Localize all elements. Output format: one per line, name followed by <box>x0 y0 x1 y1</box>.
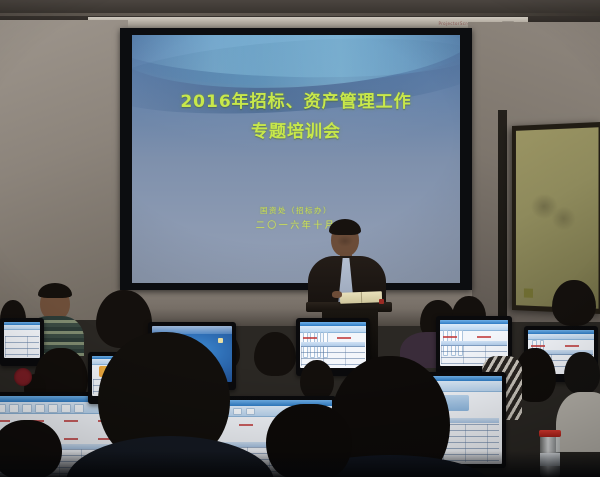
speaker-hand <box>332 291 342 298</box>
audience-head-b4 <box>254 332 296 376</box>
bottle-label-2 <box>540 453 560 465</box>
audience-head-m2 <box>300 360 334 400</box>
slide-subtitle-block: 国资处（招标办） 二〇一六年十月 <box>132 203 460 235</box>
monitor-d8-screen <box>4 322 40 358</box>
monitor-d8 <box>0 318 44 366</box>
artwork-mat <box>516 127 599 308</box>
wall-left <box>0 20 128 320</box>
slide-title-block: 2016年招标、资产管理工作 专题培训会 <box>132 87 460 147</box>
foreground-head-woman <box>266 404 352 477</box>
foreground-head-farleft <box>0 420 62 477</box>
audience-hair-ornament <box>14 368 32 386</box>
classroom-photo: ProjectorScreen 2016年招标、资产管理工作 专题培训会 <box>0 0 600 477</box>
wall-corner-edge <box>498 110 507 316</box>
slide-subtitle: 国资处（招标办） <box>132 203 460 218</box>
database-app-d8 <box>4 322 40 358</box>
slide-title-line-1: 2016年招标、资产管理工作 <box>132 87 460 117</box>
speaker-face-shading <box>335 236 355 250</box>
projection-surface: 2016年招标、资产管理工作 专题培训会 国资处（招标办） 二〇一六年十月 <box>132 35 460 283</box>
slide-date: 二〇一六年十月 <box>132 218 460 235</box>
artwork-seal <box>524 288 533 297</box>
podium-indicator <box>379 299 384 304</box>
projection-screen: 2016年招标、资产管理工作 专题培训会 国资处（招标办） 二〇一六年十月 <box>120 28 472 290</box>
ceiling-seam <box>0 13 600 16</box>
audience-head-m4 <box>564 352 600 394</box>
audience-shirt-grey <box>556 392 600 452</box>
presentation-slide: 2016年招标、资产管理工作 专题培训会 国资处（招标办） 二〇一六年十月 <box>132 35 460 283</box>
artwork-ink-strokes <box>530 182 578 243</box>
slide-title-line-2: 专题培训会 <box>132 117 460 147</box>
water-bottle-2 <box>540 436 560 477</box>
audience-head-b7 <box>552 280 596 326</box>
bottle-cap-2 <box>539 430 561 437</box>
